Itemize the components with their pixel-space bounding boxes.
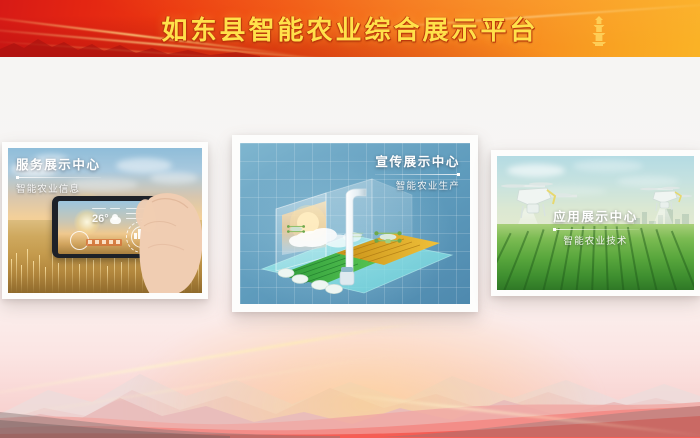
card-application-caption: 应用展示中心 智能农业技术 <box>491 206 700 247</box>
caption-rule <box>375 174 460 175</box>
card-service-caption: 服务展示中心 智能农业信息 <box>16 154 101 195</box>
hand-icon <box>132 172 202 293</box>
card-publicity-subtitle: 智能农业生产 <box>375 178 460 192</box>
caption-rule <box>16 177 101 178</box>
caption-rule <box>553 229 639 230</box>
card-publicity[interactable]: 宣传展示中心 智能农业生产 <box>232 135 478 312</box>
cloud-icon <box>116 158 172 173</box>
header-banner: 如东县智能农业综合展示平台 <box>0 0 700 57</box>
data-chips <box>86 239 122 246</box>
card-application-title: 应用展示中心 <box>491 206 700 225</box>
card-application[interactable]: 应用展示中心 智能农业技术 <box>491 150 700 296</box>
cloud-icon <box>573 160 643 172</box>
app-stage: 如东县智能农业综合展示平台 <box>0 0 700 438</box>
card-service-subtitle: 智能农业信息 <box>16 181 101 195</box>
temperature-readout: 26° <box>92 214 109 225</box>
ridge-dark-right <box>0 404 700 438</box>
card-publicity-title: 宣传展示中心 <box>375 151 460 170</box>
cloud-icon <box>110 217 121 224</box>
card-service[interactable]: 26° <box>2 142 208 299</box>
card-application-subtitle: 智能农业技术 <box>491 233 700 247</box>
card-service-title: 服务展示中心 <box>16 154 101 173</box>
card-publicity-caption: 宣传展示中心 智能农业生产 <box>375 151 460 192</box>
page-title: 如东县智能农业综合展示平台 <box>0 0 700 57</box>
